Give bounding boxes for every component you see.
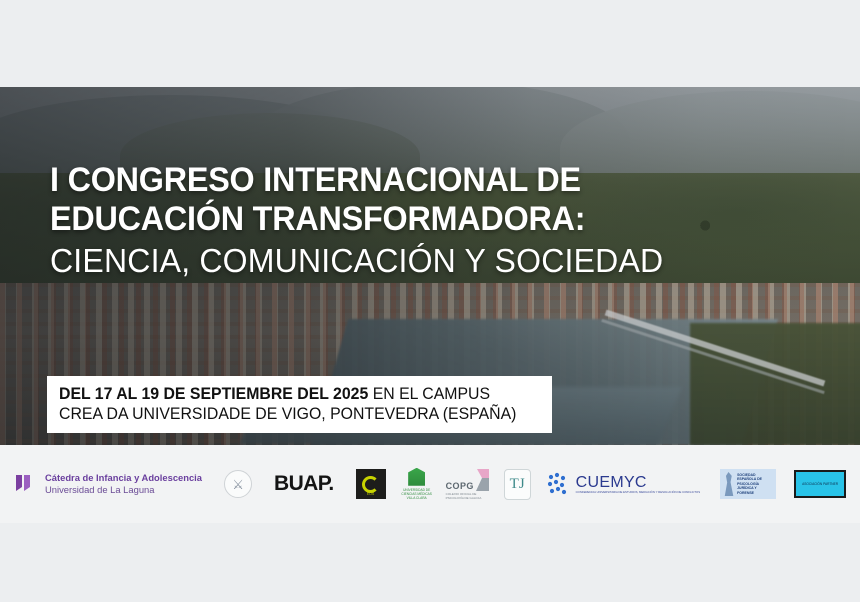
ull-monogram-icon (14, 472, 38, 496)
network-dots-icon (547, 472, 572, 497)
copg-shape-icon (476, 469, 489, 491)
eds-label: EDS (356, 492, 386, 496)
campus-text: EN EL CAMPUS (368, 385, 490, 403)
logo-buap[interactable]: BUAP. (274, 472, 334, 496)
copg-row: COPG (446, 469, 490, 491)
title-line-2: EDUCACIÓN TRANSFORMADORA: (50, 200, 772, 239)
hero-subtitle: CIENCIA, COMUNICACIÓN Y SOCIEDAD (50, 239, 787, 283)
cyan-partner-caption: ASOCIACIÓN PARTNER (802, 482, 838, 486)
ull-line-2: Universidad de La Laguna (45, 484, 202, 496)
ucm-caption: UNIVERSIDAD DE CIENCIAS MÉDICAS VILLA CL… (400, 488, 434, 501)
shield-icon (408, 468, 425, 486)
cuemyc-label: CUEMYC (576, 474, 700, 491)
sepjf-caption: SOCIEDAD ESPAÑOLA DE PSICOLOGÍA JURÍDICA… (737, 473, 773, 496)
partner-logo-bar: Cátedra de Infancia y Adolescencia Unive… (0, 445, 860, 523)
ull-line-1: Cátedra de Infancia y Adolescencia (45, 472, 202, 484)
hero-title-block: I CONGRESO INTERNACIONAL DE EDUCACIÓN TR… (50, 161, 810, 283)
logo-catedra-infancia-ull[interactable]: Cátedra de Infancia y Adolescencia Unive… (14, 472, 202, 496)
logo-cyan-partner[interactable]: ASOCIACIÓN PARTNER (794, 470, 846, 498)
university-seal-icon: ⚔ (232, 478, 244, 491)
date-range: DEL 17 AL 19 DE SEPTIEMBRE DEL 2025 (59, 385, 368, 403)
date-line: DEL 17 AL 19 DE SEPTIEMBRE DEL 2025 EN E… (59, 384, 521, 404)
hero-banner: I CONGRESO INTERNACIONAL DE EDUCACIÓN TR… (0, 87, 860, 445)
gear-icon (362, 476, 379, 493)
logo-sociedad-espanola-psicologia-juridica-forense[interactable]: SOCIEDAD ESPAÑOLA DE PSICOLOGÍA JURÍDICA… (720, 469, 776, 499)
date-venue-box: DEL 17 AL 19 DE SEPTIEMBRE DEL 2025 EN E… (47, 376, 552, 433)
venue-line: CREA DA UNIVERSIDADE DE VIGO, PONTEVEDRA… (59, 404, 521, 424)
copg-caption: COLEXIO OFICIAL DE PSICOLOXÍA DE GALICIA (446, 492, 490, 500)
logo-university-seal[interactable]: ⚔ (224, 470, 252, 498)
cuemyc-caption: CONFERENCIA UNIVERSITARIA DE ESTUDIOS, M… (576, 491, 700, 495)
logo-tj[interactable]: TJ (504, 469, 531, 500)
title-line-1: I CONGRESO INTERNACIONAL DE (50, 161, 772, 200)
logo-universidad-ciencias-medicas[interactable]: UNIVERSIDAD DE CIENCIAS MÉDICAS VILLA CL… (400, 468, 434, 501)
congress-banner-page: I CONGRESO INTERNACIONAL DE EDUCACIÓN TR… (0, 0, 860, 602)
logo-cuemyc[interactable]: CUEMYC CONFERENCIA UNIVERSITARIA DE ESTU… (547, 472, 700, 497)
logo-eds[interactable]: EDS (356, 469, 386, 499)
justice-figure-icon (723, 472, 735, 496)
logo-copg[interactable]: COPG COLEXIO OFICIAL DE PSICOLOXÍA DE GA… (446, 469, 490, 500)
copg-label: COPG (446, 481, 474, 491)
